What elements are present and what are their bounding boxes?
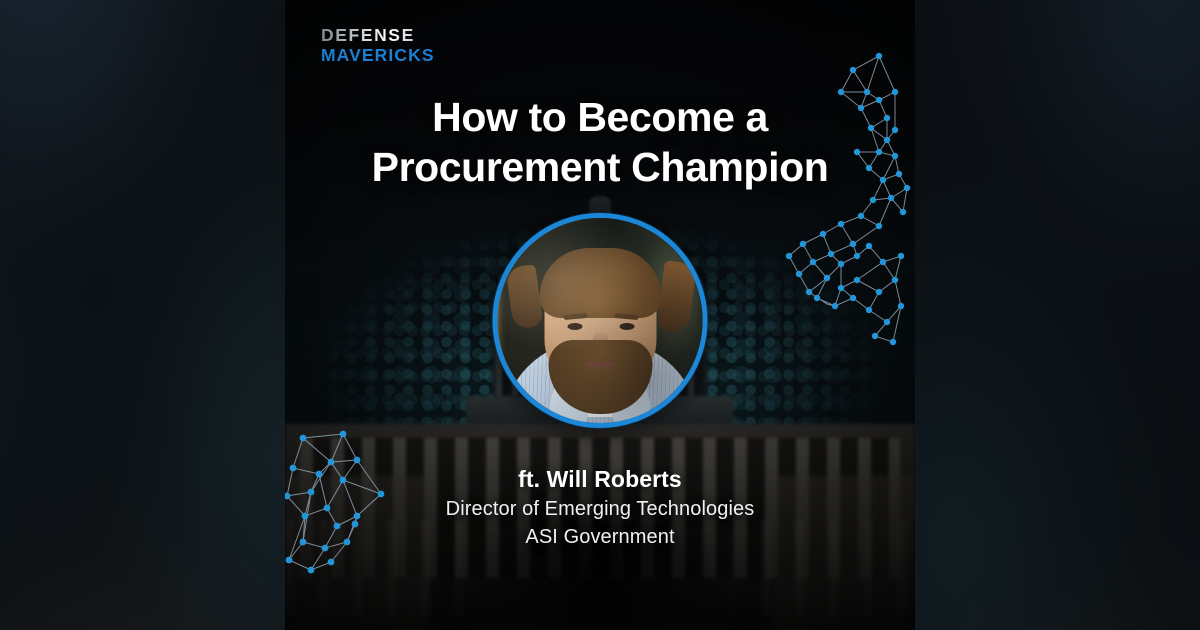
guest-role: Director of Emerging Technologies [285, 498, 915, 521]
defense-mavericks-logo[interactable]: DEFENSE MAVERICKS [321, 27, 435, 64]
letterbox-backdrop-right [915, 0, 1200, 630]
guest-avatar [493, 213, 708, 428]
episode-title-line-1: How to Become a [285, 92, 915, 142]
guest-credits: ft. Will Roberts Director of Emerging Te… [285, 466, 915, 549]
logo-line-defense: DEFENSE [321, 27, 435, 45]
episode-title-line-2: Procurement Champion [285, 142, 915, 192]
guest-name: ft. Will Roberts [285, 466, 915, 493]
cover-artwork: DEFENSE MAVERICKS How to Become a Procur… [285, 0, 915, 630]
logo-line-mavericks: MAVERICKS [321, 47, 435, 65]
podcast-cover-stage: DEFENSE MAVERICKS How to Become a Procur… [0, 0, 1200, 630]
backdrop-blur-right [915, 0, 1200, 630]
episode-title: How to Become a Procurement Champion [285, 92, 915, 192]
backdrop-blur-left [0, 0, 285, 630]
guest-organization: ASI Government [285, 526, 915, 549]
letterbox-backdrop-left [0, 0, 285, 630]
avatar-shading [498, 218, 703, 423]
